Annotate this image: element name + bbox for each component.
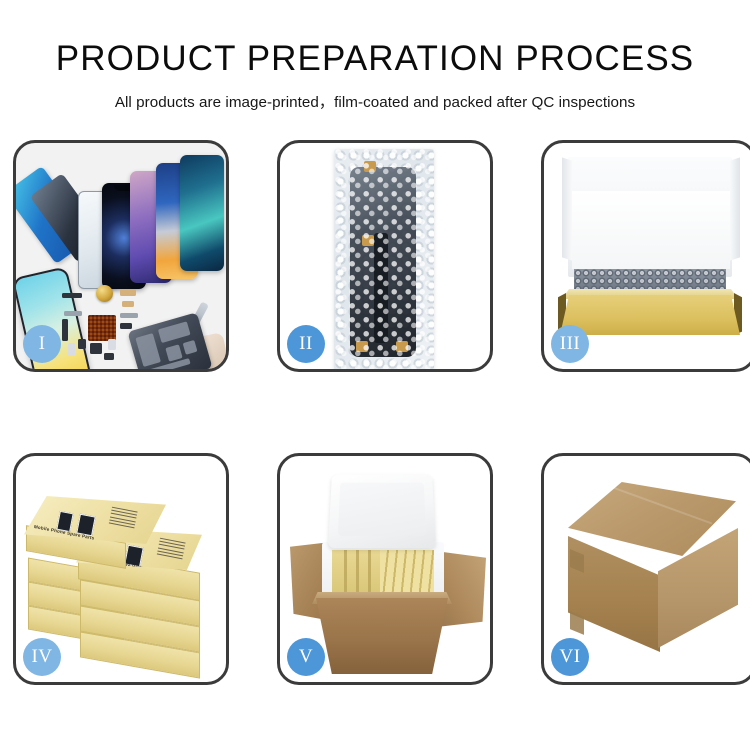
tape-tab xyxy=(364,161,376,172)
process-step-panel-3: III xyxy=(541,140,750,372)
step-badge-5: V xyxy=(287,638,325,676)
process-step-panel-4: Mobile Phone Spare Parts Mobile Phone Sp… xyxy=(13,453,229,685)
copper-contact-grid xyxy=(88,315,116,341)
box-label-text-lines xyxy=(156,538,185,562)
part-chip xyxy=(78,339,86,349)
part-flex-cable xyxy=(62,319,68,341)
carton-body xyxy=(316,598,448,674)
part-chip xyxy=(104,353,114,360)
part-chip xyxy=(62,293,82,298)
box-lid-left-flap xyxy=(562,157,572,260)
step-badge-1: I xyxy=(23,325,61,363)
inner-boxes-right xyxy=(380,550,434,596)
page-title: PRODUCT PREPARATION PROCESS xyxy=(0,41,750,76)
part-camera-module xyxy=(90,343,102,354)
box-front-yellow xyxy=(560,295,740,335)
process-step-panel-6: VI xyxy=(541,453,750,685)
process-step-panel-2: II xyxy=(277,140,493,372)
part-chip xyxy=(120,289,136,296)
part-chip xyxy=(64,311,82,316)
step-badge-2: II xyxy=(287,325,325,363)
tape-tab xyxy=(396,341,408,352)
flex-cable xyxy=(374,233,388,343)
part-chip xyxy=(120,323,132,329)
process-step-panel-1: I xyxy=(13,140,229,372)
step-badge-3: III xyxy=(551,325,589,363)
gold-component-icon xyxy=(96,285,113,302)
foam-lid xyxy=(328,474,436,548)
bubble-wrap-bag xyxy=(334,149,434,369)
page-subtitle: All products are image-printed，film-coat… xyxy=(0,90,750,112)
part-chip xyxy=(108,339,116,350)
foam-insert xyxy=(572,191,730,269)
box-lid-right-flap xyxy=(730,157,740,260)
part-chip xyxy=(68,343,75,356)
process-step-grid: I II xyxy=(13,140,737,685)
tape-tab xyxy=(362,235,374,246)
box-label-text-lines xyxy=(108,507,137,531)
header: PRODUCT PREPARATION PROCESS All products… xyxy=(0,0,750,112)
part-chip xyxy=(122,301,134,307)
step-badge-6: VI xyxy=(551,638,589,676)
step-badge-4: IV xyxy=(23,638,61,676)
process-step-panel-5: V xyxy=(277,453,493,685)
product-preparation-infographic: PRODUCT PREPARATION PROCESS All products… xyxy=(0,0,750,750)
phone-screen-teal xyxy=(180,155,224,271)
tape-tab xyxy=(356,341,368,352)
part-flex-cable xyxy=(120,313,138,318)
